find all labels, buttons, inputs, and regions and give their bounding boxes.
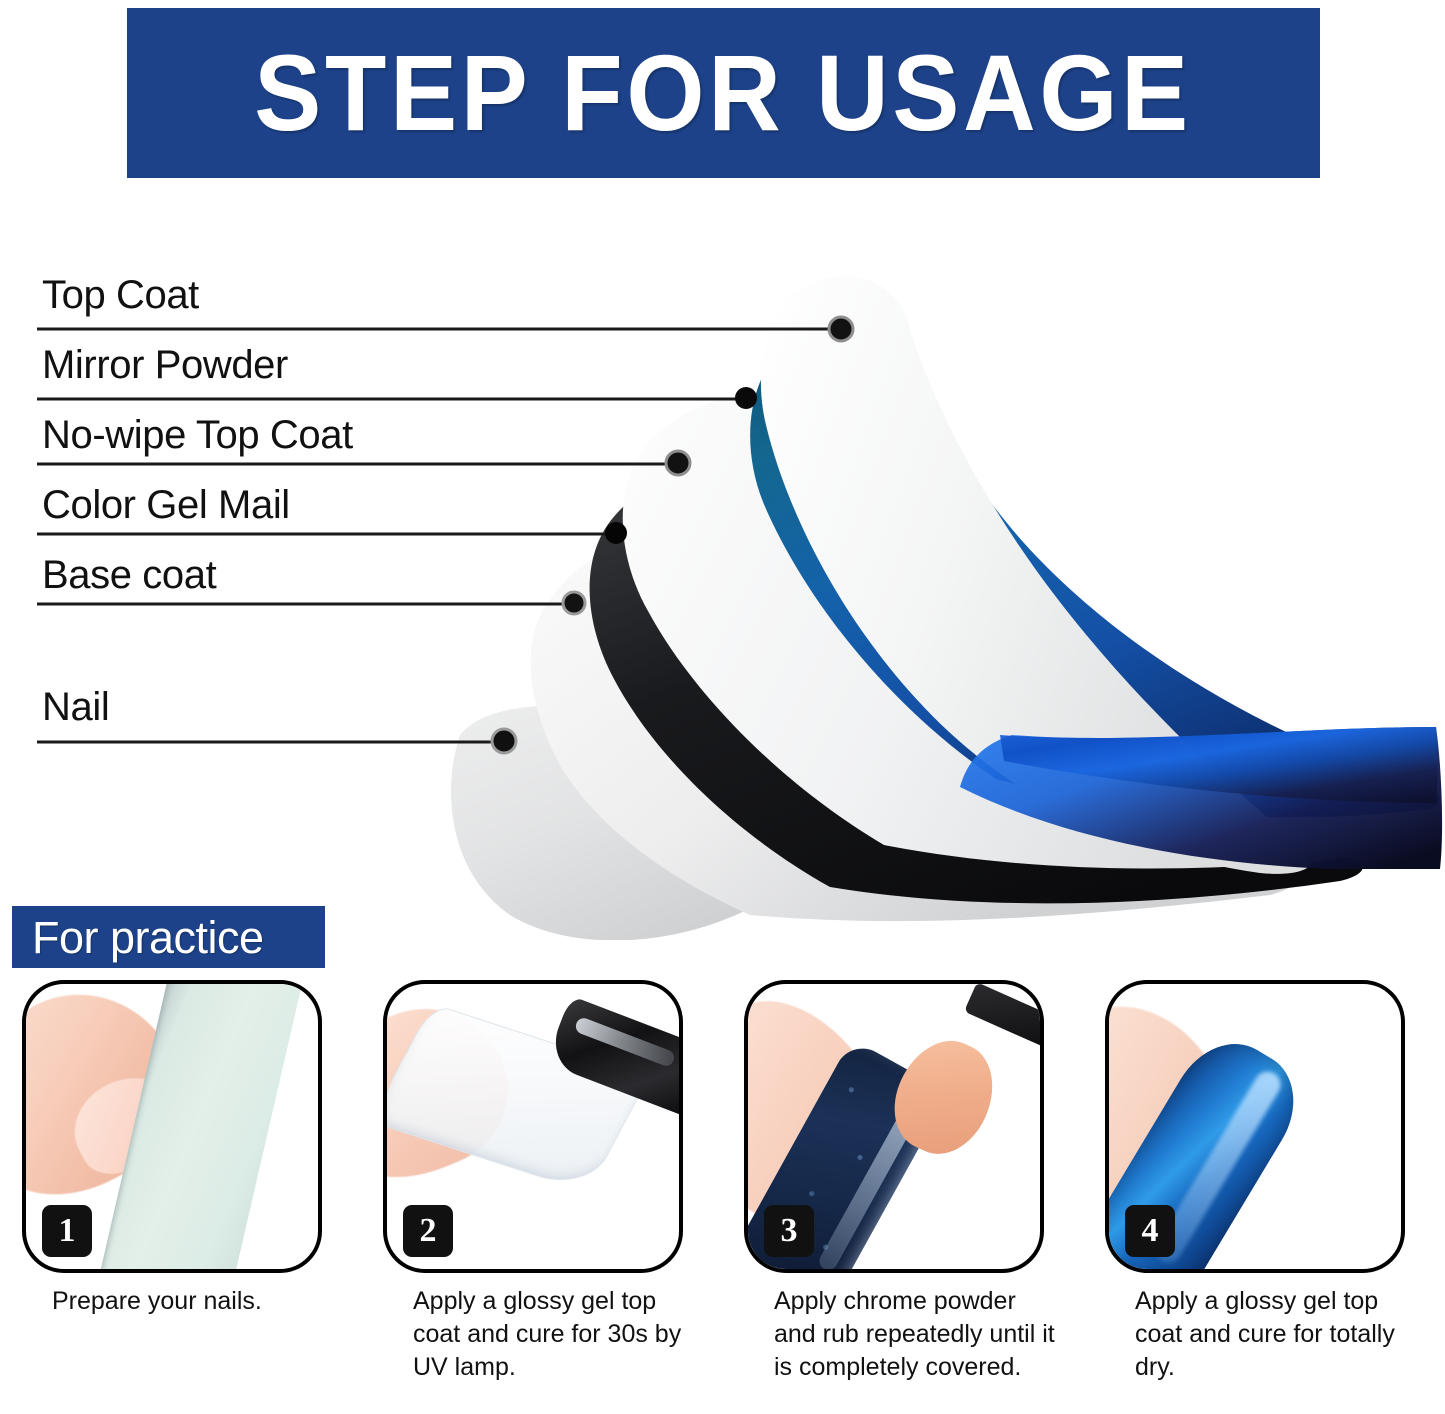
practice-steps-row: 1 Prepare your nails. 2 Apply a glossy g… (0, 980, 1445, 1414)
step-1-caption: Prepare your nails. (52, 1285, 342, 1318)
step-2-caption: Apply a glossy gel top coat and cure for… (413, 1285, 703, 1384)
infographic-page: STEP FOR USAGE Top Coat Mirror Powder No… (0, 0, 1445, 1414)
step-number-badge-4: 4 (1125, 1205, 1175, 1257)
nail-layer-diagram: Top Coat Mirror Powder No-wipe Top Coat … (0, 180, 1445, 940)
step-number-badge-3: 3 (764, 1205, 814, 1257)
step-3-photo: 3 (744, 980, 1044, 1273)
step-4-caption: Apply a glossy gel top coat and cure for… (1135, 1285, 1425, 1384)
step-1-photo: 1 (22, 980, 322, 1273)
leader-dot-top-coat (829, 317, 853, 341)
for-practice-label: For practice (32, 915, 264, 960)
practice-step-4: 4 Apply a glossy gel top coat and cure f… (1083, 980, 1444, 1414)
step-number-badge-1: 1 (42, 1205, 92, 1257)
for-practice-badge: For practice (12, 906, 325, 968)
leader-lines (0, 180, 1445, 940)
practice-step-2: 2 Apply a glossy gel top coat and cure f… (361, 980, 722, 1414)
leader-dot-color-gel-mail (605, 522, 627, 544)
leader-dot-base-coat (563, 592, 585, 614)
leader-dot-nail (492, 729, 516, 753)
applicator-stick-icon (964, 982, 1044, 1054)
leader-dot-no-wipe-top-coat (666, 451, 690, 475)
step-3-caption: Apply chrome powder and rub repeatedly u… (774, 1285, 1064, 1384)
step-4-photo: 4 (1105, 980, 1405, 1273)
leader-dot-mirror-powder (735, 387, 757, 409)
page-title: STEP FOR USAGE (255, 39, 1193, 147)
header-banner: STEP FOR USAGE (127, 8, 1320, 178)
step-number-badge-2: 2 (403, 1205, 453, 1257)
practice-step-3: 3 Apply chrome powder and rub repeatedly… (722, 980, 1083, 1414)
step-2-photo: 2 (383, 980, 683, 1273)
practice-step-1: 1 Prepare your nails. (0, 980, 361, 1414)
